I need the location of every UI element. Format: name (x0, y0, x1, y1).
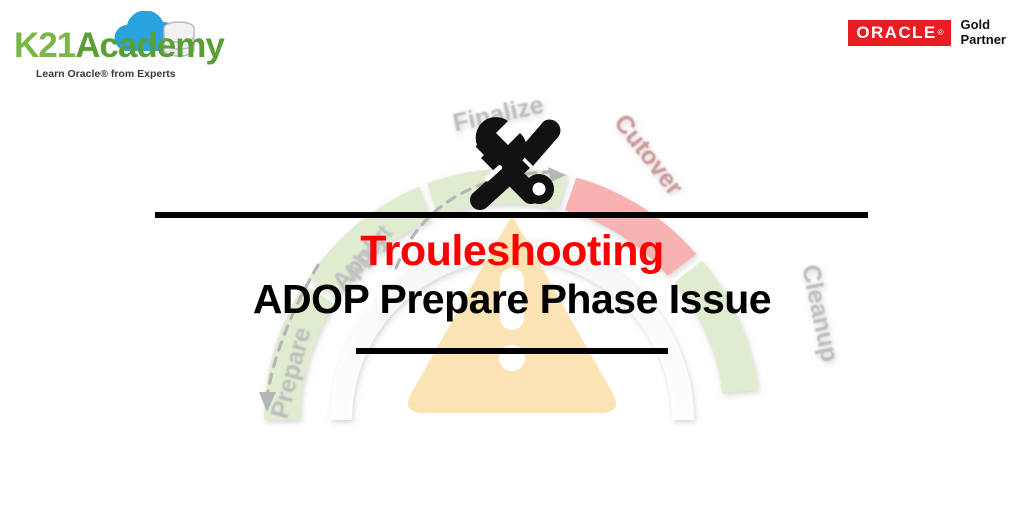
logo-tagline: Learn Oracle® from Experts (36, 68, 176, 80)
title-rule-bottom (356, 348, 668, 354)
gauge-segment-label: Cutover (608, 109, 688, 201)
logo-name-part2: Academy (75, 26, 224, 65)
partner-tier-line1: Gold (960, 18, 1006, 33)
page-title: Trouleshooting (0, 230, 1024, 274)
oracle-gold-partner-badge: ORACLE® Gold Partner (848, 18, 1006, 48)
title-block: Trouleshooting ADOP Prepare Phase Issue (0, 230, 1024, 323)
logo-wordmark: K21Academy (14, 28, 224, 63)
k21academy-logo[interactable]: K21Academy Learn Oracle® from Experts (14, 10, 244, 82)
partner-tier-text: Gold Partner (960, 18, 1006, 48)
partner-tier-line2: Partner (960, 33, 1006, 48)
title-rule-top (155, 212, 868, 218)
registered-trademark-mark: ® (938, 28, 944, 37)
oracle-wordmark: ORACLE (856, 24, 936, 41)
page-subtitle: ADOP Prepare Phase Issue (0, 277, 1024, 323)
poster-canvas: Prepare Apply Finalize Cutover Cleanup A… (0, 0, 1024, 530)
oracle-logo-box: ORACLE® (848, 20, 951, 46)
logo-name-part1: K21 (14, 26, 75, 65)
